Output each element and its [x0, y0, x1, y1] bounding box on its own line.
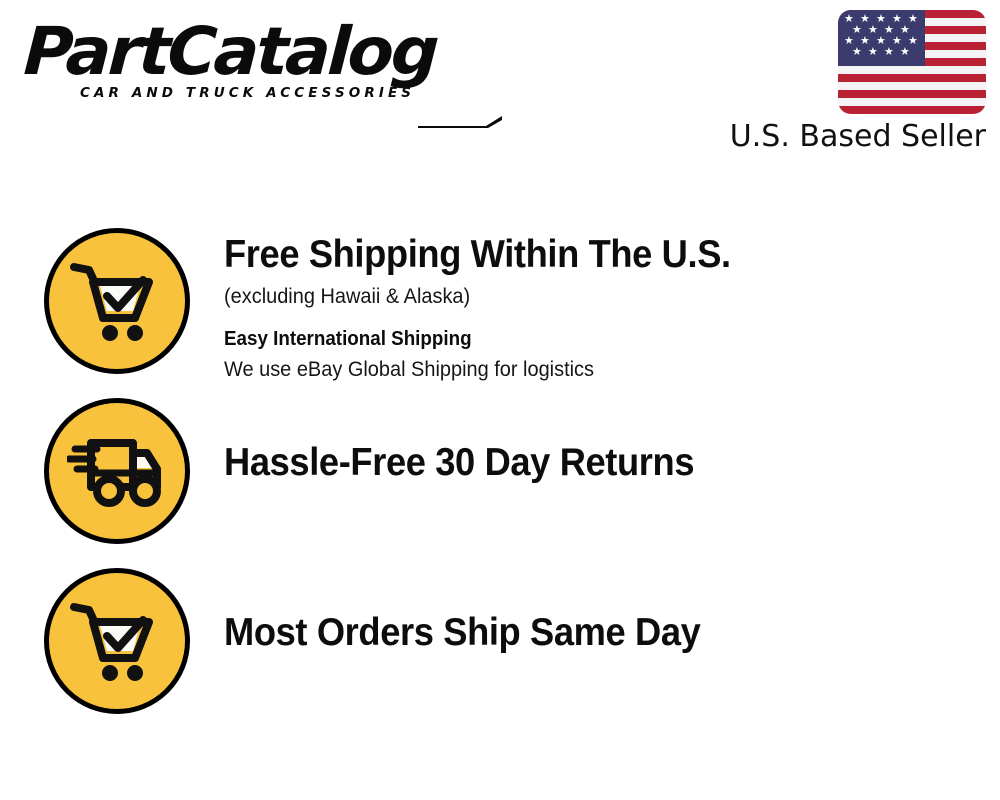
us-flag-icon: ★ ★ ★ ★ ★ ★ ★ ★ ★ ★ ★ ★ ★ ★ ★ ★ ★ — [838, 10, 986, 114]
feature-row: Hassle-Free 30 Day Returns — [0, 398, 1000, 544]
feature-subtitle: We use eBay Global Shipping for logistic… — [224, 356, 961, 383]
banner-page: PartCatalog CAR AND TRUCK ACCESSORIES ★ — [0, 0, 1000, 800]
cart-check-icon — [44, 228, 190, 374]
feature-note: (excluding Hawaii & Alaska) — [224, 284, 961, 310]
feature-title: Hassle-Free 30 Day Returns — [224, 440, 946, 486]
feature-title: Most Orders Ship Same Day — [224, 610, 946, 656]
us-based-seller-block: ★ ★ ★ ★ ★ ★ ★ ★ ★ ★ ★ ★ ★ ★ ★ ★ ★ — [686, 10, 986, 154]
delivery-truck-icon — [44, 398, 190, 544]
brand-wordmark: PartCatalog — [22, 22, 505, 83]
feature-text: Hassle-Free 30 Day Returns — [224, 398, 1000, 486]
flag-canton: ★ ★ ★ ★ ★ ★ ★ ★ ★ ★ ★ ★ ★ ★ ★ ★ ★ — [838, 10, 925, 66]
banner-header: PartCatalog CAR AND TRUCK ACCESSORIES ★ — [0, 0, 1000, 175]
cart-check-icon — [44, 568, 190, 714]
brand-logo: PartCatalog CAR AND TRUCK ACCESSORIES — [24, 22, 494, 101]
logo-swoosh-icon — [416, 114, 504, 128]
feature-text: Free Shipping Within The U.S. (excluding… — [224, 228, 1000, 383]
feature-title: Free Shipping Within The U.S. — [224, 232, 946, 278]
us-based-seller-label: U.S. Based Seller — [686, 120, 986, 154]
feature-text: Most Orders Ship Same Day — [224, 568, 1000, 656]
feature-subtitle-strong: Easy International Shipping — [224, 326, 953, 352]
brand-tagline: CAR AND TRUCK ACCESSORIES — [80, 85, 494, 101]
feature-row: Free Shipping Within The U.S. (excluding… — [0, 228, 1000, 383]
feature-row: Most Orders Ship Same Day — [0, 568, 1000, 714]
